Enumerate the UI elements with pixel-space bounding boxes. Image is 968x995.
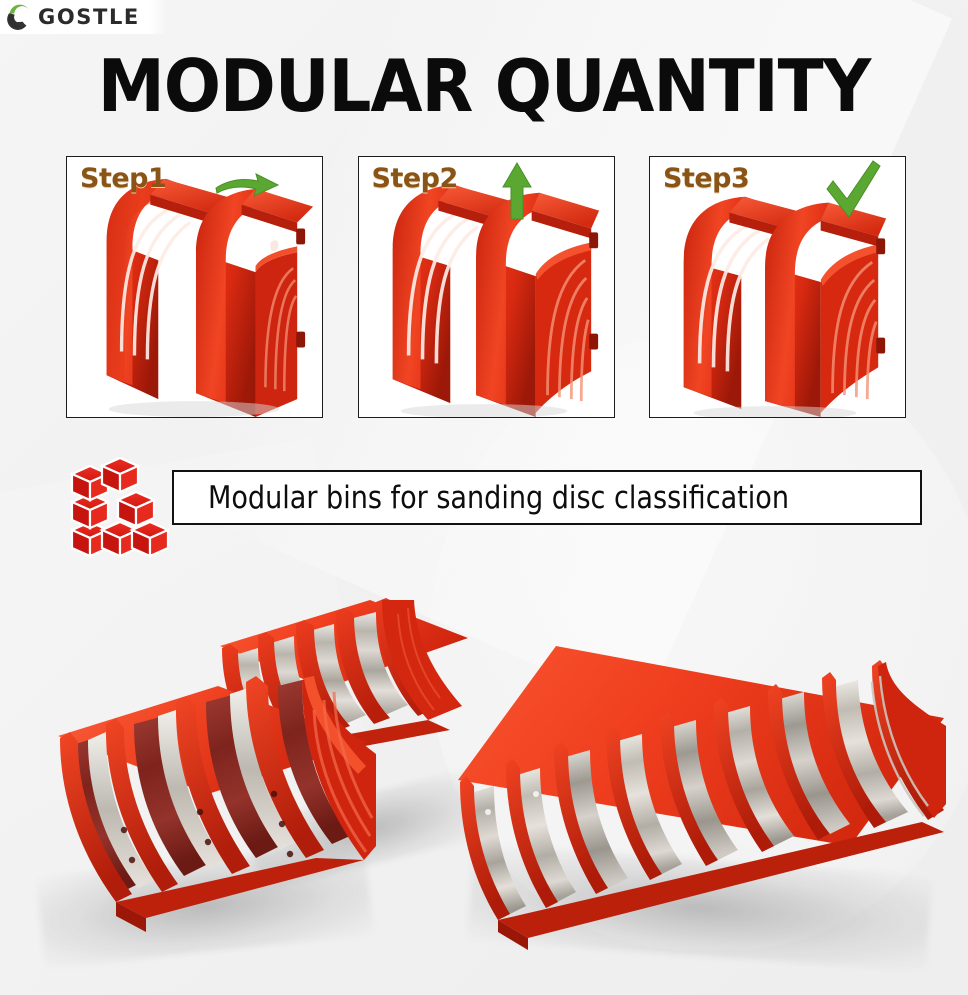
brand-name: GOSTLE	[38, 5, 140, 29]
caption-banner: Modular bins for sanding disc classifica…	[66, 452, 922, 560]
step-label: Step2	[372, 163, 458, 194]
step-panel-group: Step1	[66, 156, 906, 418]
caption-text: Modular bins for sanding disc classifica…	[208, 480, 789, 516]
green-up-arrow-icon	[500, 161, 534, 221]
page-title: MODULAR QUANTITY	[0, 52, 968, 120]
caption-box: Modular bins for sanding disc classifica…	[172, 470, 922, 525]
front-left-bin	[50, 670, 380, 980]
front-left-bin-illustration	[50, 670, 380, 980]
infographic-page: GOSTLE MODULAR QUANTITY	[0, 0, 968, 995]
step-label: Step1	[80, 163, 166, 194]
green-check-icon	[823, 159, 883, 223]
right-long-bin-illustration	[452, 630, 952, 960]
two-red-modular-bins-separating-illustration	[67, 157, 322, 417]
brand-logo: GOSTLE	[0, 0, 150, 34]
product-photo-stage: 240 GRIT 320 GRIT 400 GRIT 600 GRIT	[0, 560, 968, 995]
step-panel-2: Step2	[358, 156, 615, 418]
swoosh-s-logo-icon	[3, 2, 33, 32]
step-panel-3: Step3	[649, 156, 906, 418]
red-modular-bins-stacking-illustration	[359, 157, 614, 417]
right-long-bin	[452, 630, 952, 960]
red-isometric-cube-stack-icon	[66, 452, 180, 560]
step-label: Step3	[663, 163, 749, 194]
step-panel-1: Step1	[66, 156, 323, 418]
green-right-arrow-icon	[214, 171, 280, 201]
